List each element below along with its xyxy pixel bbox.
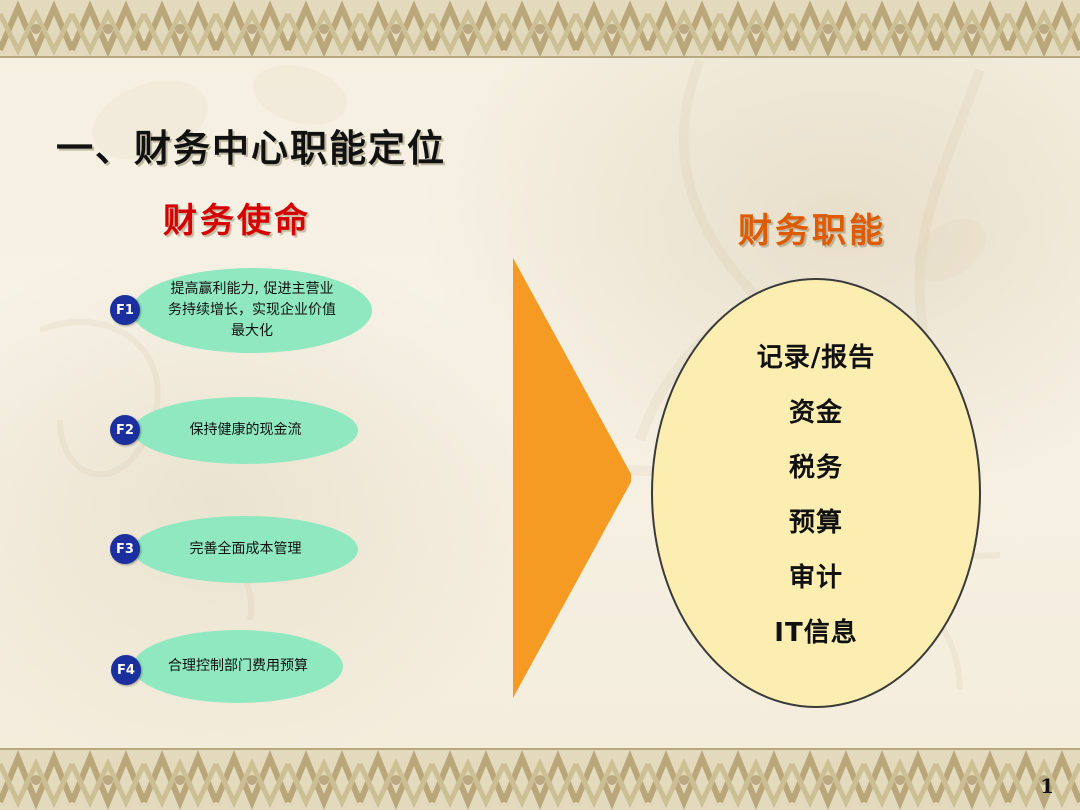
page-number: 1 bbox=[1040, 774, 1054, 798]
mission-text: 保持健康的现金流 bbox=[133, 397, 358, 464]
right-column-heading: 财务职能 bbox=[738, 203, 886, 252]
mission-item-f4[interactable]: 合理控制部门费用预算 bbox=[133, 630, 343, 703]
functions-list: 记录/报告 资金 税务 预算 审计 IT信息 bbox=[651, 278, 981, 708]
flow-arrow bbox=[505, 258, 635, 698]
mission-text: 完善全面成本管理 bbox=[133, 516, 358, 583]
mission-text: 合理控制部门费用预算 bbox=[133, 630, 343, 703]
function-item: 税务 bbox=[789, 447, 843, 484]
function-item: 资金 bbox=[789, 392, 843, 429]
bottom-ornament-band bbox=[0, 748, 1080, 810]
mission-item-f1[interactable]: 提高赢利能力, 促进主营业务持续增长，实现企业价值最大化 bbox=[132, 268, 372, 353]
mission-badge-f4: F4 bbox=[111, 655, 141, 685]
mission-item-f3[interactable]: 完善全面成本管理 bbox=[133, 516, 358, 583]
mission-text: 提高赢利能力, 促进主营业务持续增长，实现企业价值最大化 bbox=[132, 268, 372, 353]
mission-item-f2[interactable]: 保持健康的现金流 bbox=[133, 397, 358, 464]
top-ornament-band bbox=[0, 0, 1080, 58]
mission-badge-f3: F3 bbox=[110, 534, 140, 564]
top-band-rule bbox=[0, 56, 1080, 58]
right-arrow-icon bbox=[513, 258, 631, 698]
function-item: 审计 bbox=[789, 557, 843, 594]
page-title: 一、财务中心职能定位 bbox=[56, 118, 446, 172]
left-column-heading: 财务使命 bbox=[163, 193, 311, 242]
mission-badge-f1: F1 bbox=[110, 295, 140, 325]
function-item: IT信息 bbox=[774, 612, 857, 649]
function-item: 记录/报告 bbox=[757, 337, 876, 374]
function-item: 预算 bbox=[789, 502, 843, 539]
slide-canvas: 一、财务中心职能定位 财务使命 财务职能 提高赢利能力, 促进主营业务持续增长，… bbox=[0, 0, 1080, 810]
bottom-band-rule bbox=[0, 748, 1080, 750]
mission-badge-f2: F2 bbox=[110, 415, 140, 445]
